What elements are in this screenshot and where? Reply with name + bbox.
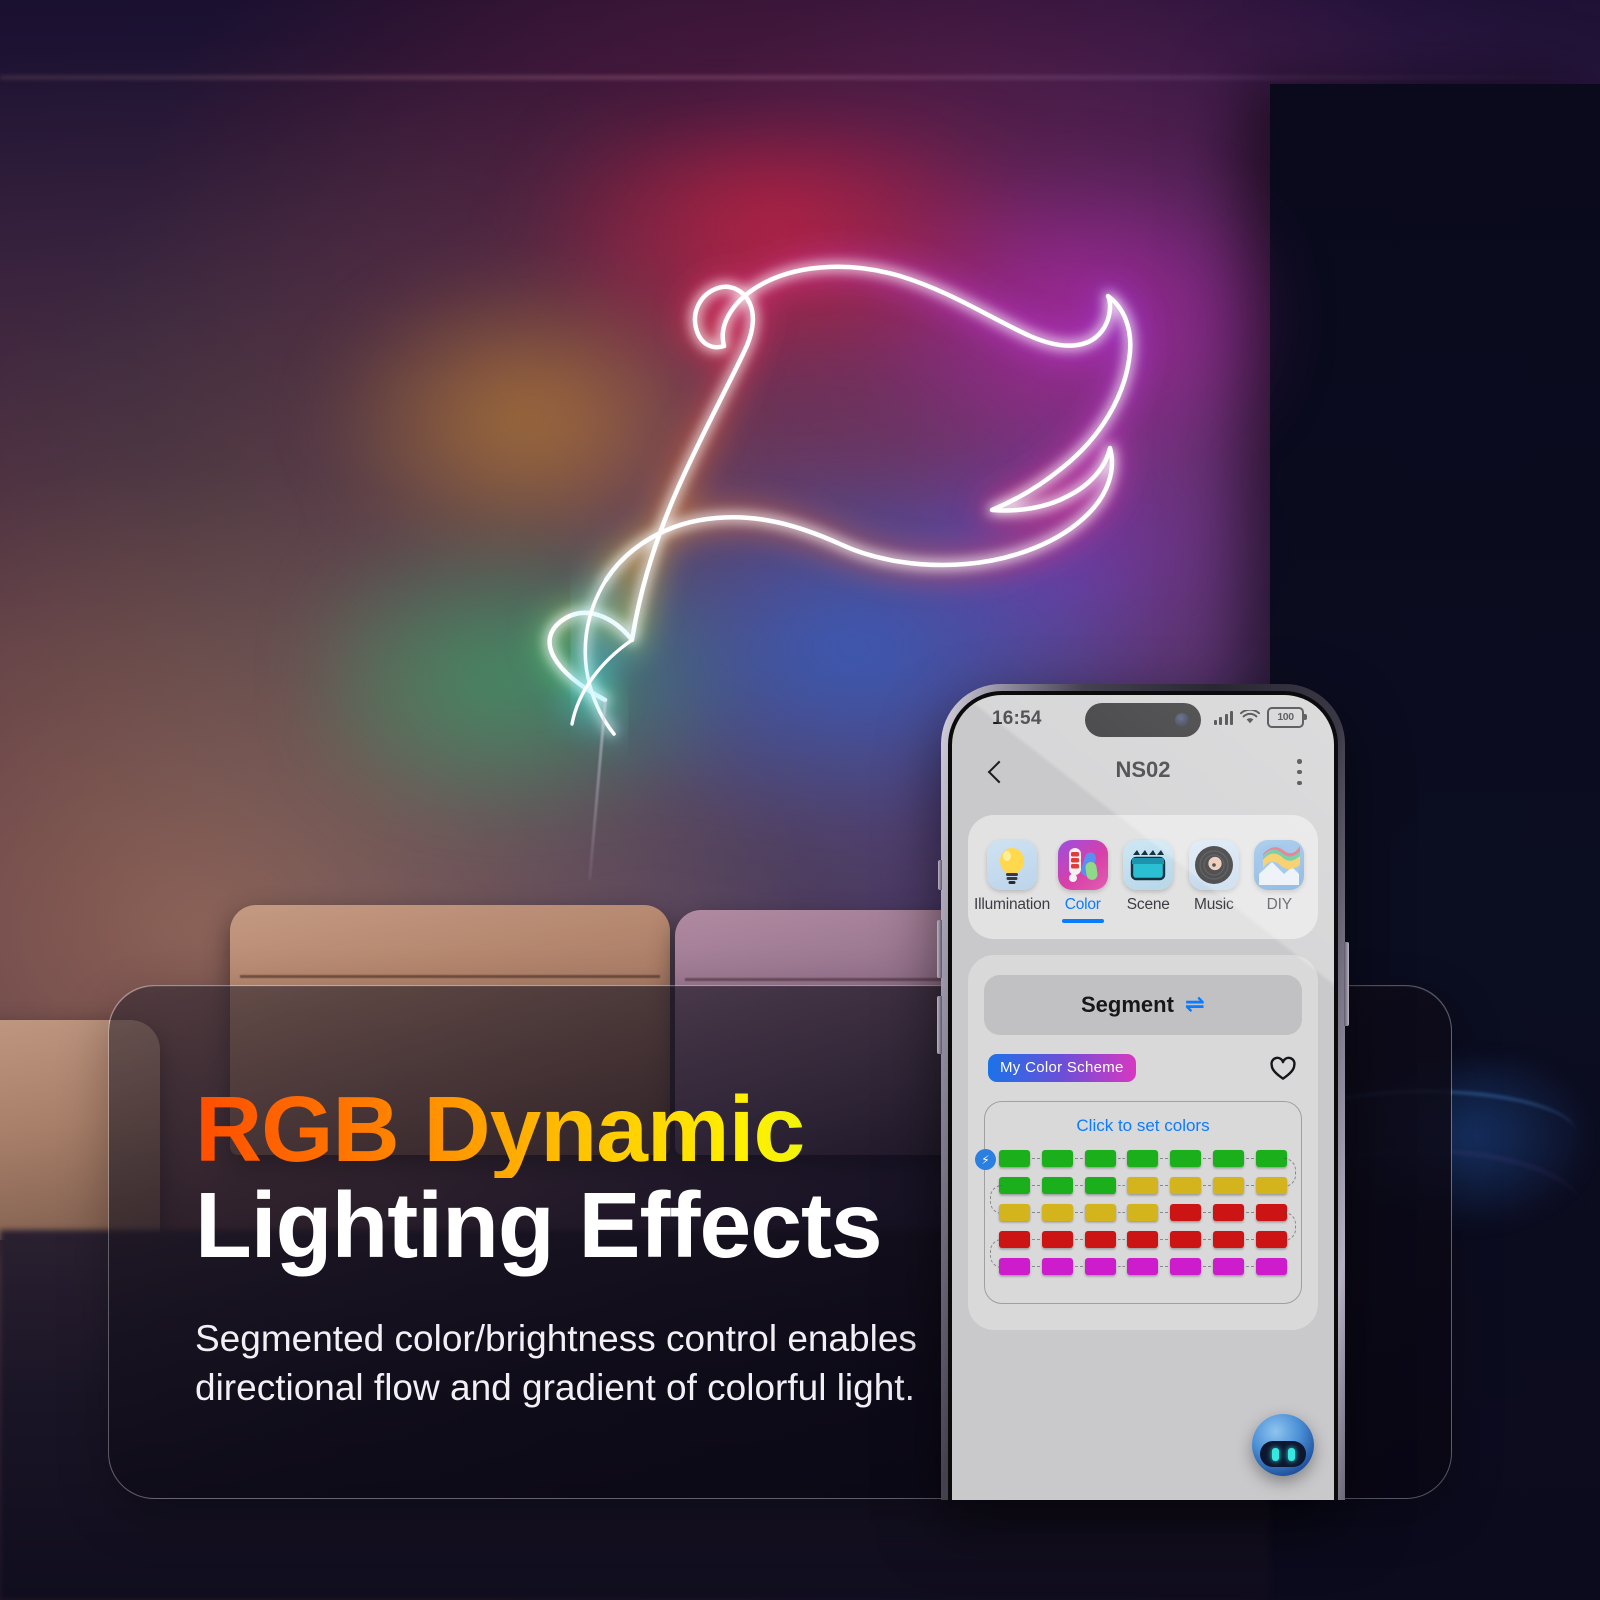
segment-cell[interactable]: [1085, 1150, 1116, 1167]
segment-cell[interactable]: [1213, 1150, 1244, 1167]
volume-up-button[interactable]: [937, 920, 942, 978]
segment-link: [1032, 1239, 1040, 1241]
app-navbar: NS02: [952, 747, 1334, 801]
segment-cell[interactable]: [1042, 1231, 1073, 1248]
phone-screen: 16:54 100: [952, 695, 1334, 1500]
phone-bezel: 16:54 100: [948, 691, 1338, 1500]
segment-cell[interactable]: [1170, 1258, 1201, 1275]
tab-illumination-label: Illumination: [974, 896, 1050, 914]
segment-link: [1075, 1185, 1083, 1187]
clapperboard-icon: [1123, 840, 1173, 890]
assistant-visor: [1260, 1441, 1306, 1467]
page-subtitle: Segmented color/brightness control enabl…: [195, 1314, 935, 1413]
segment-link: [1203, 1239, 1211, 1241]
robot-assistant-icon[interactable]: [1252, 1414, 1314, 1476]
cellular-signal-icon: [1214, 710, 1234, 725]
segment-cell[interactable]: [999, 1177, 1030, 1194]
wall-trim-line: [0, 76, 1600, 79]
segment-link: [1118, 1212, 1126, 1214]
color-scheme-chip[interactable]: My Color Scheme: [988, 1054, 1136, 1082]
segment-link: [1160, 1239, 1168, 1241]
segment-link: [1032, 1185, 1040, 1187]
volume-down-button[interactable]: [937, 996, 942, 1054]
segment-cell[interactable]: [1085, 1204, 1116, 1221]
segment-cell[interactable]: [1042, 1258, 1073, 1275]
segment-cell[interactable]: [1127, 1177, 1158, 1194]
mute-switch[interactable]: [938, 860, 942, 890]
segment-link: [1118, 1185, 1126, 1187]
segment-cell[interactable]: [1256, 1258, 1287, 1275]
swap-arrows-icon: ⇌: [1185, 993, 1205, 1017]
segment-grid-row[interactable]: [999, 1258, 1287, 1275]
segment-cell[interactable]: [1256, 1150, 1287, 1167]
segment-link: [1203, 1212, 1211, 1214]
battery-icon: 100: [1267, 707, 1304, 728]
segment-link: [1246, 1212, 1254, 1214]
segment-cell[interactable]: [1213, 1177, 1244, 1194]
segment-cell[interactable]: [1256, 1177, 1287, 1194]
segment-link: [1075, 1212, 1083, 1214]
segment-cell[interactable]: [1170, 1204, 1201, 1221]
segment-link: [1160, 1185, 1168, 1187]
segment-link: [1246, 1185, 1254, 1187]
status-indicators: 100: [1214, 707, 1305, 728]
segment-link: [1032, 1212, 1040, 1214]
status-time: 16:54: [992, 708, 1042, 730]
segment-cell[interactable]: [1085, 1231, 1116, 1248]
segment-link: [1246, 1239, 1254, 1241]
segment-cell[interactable]: [999, 1204, 1030, 1221]
segment-cell[interactable]: [1256, 1231, 1287, 1248]
segment-cell[interactable]: [1085, 1258, 1116, 1275]
bolt-icon: ⚡: [975, 1149, 996, 1170]
segment-cell[interactable]: [1213, 1204, 1244, 1221]
mode-tab-bar: Illumination: [968, 815, 1318, 939]
segment-link: [1160, 1212, 1168, 1214]
segment-grid-row[interactable]: [999, 1177, 1287, 1194]
more-vertical-icon[interactable]: [1297, 759, 1302, 785]
segment-cell[interactable]: [1256, 1204, 1287, 1221]
scheme-row: My Color Scheme: [984, 1053, 1302, 1083]
tab-scene[interactable]: Scene: [1116, 840, 1182, 914]
battery-level: 100: [1277, 712, 1293, 723]
dynamic-island: [1085, 703, 1201, 737]
segment-cell[interactable]: [999, 1258, 1030, 1275]
device-name-title: NS02: [952, 757, 1334, 783]
phone-mockup: 16:54 100: [941, 684, 1345, 1500]
assistant-eye-right: [1288, 1448, 1295, 1461]
segment-link: [1203, 1185, 1211, 1187]
cushion-seam-left: [240, 975, 660, 978]
tab-music-label: Music: [1194, 896, 1233, 914]
segment-grid-rows: ⚡: [999, 1150, 1287, 1275]
segment-grid-row[interactable]: [999, 1231, 1287, 1248]
segment-cell[interactable]: [1042, 1177, 1073, 1194]
segment-cell[interactable]: [1127, 1150, 1158, 1167]
segment-grid-row[interactable]: [999, 1204, 1287, 1221]
segment-cell[interactable]: [1170, 1231, 1201, 1248]
tab-scene-label: Scene: [1127, 896, 1170, 914]
segment-cell[interactable]: [1085, 1177, 1116, 1194]
segment-link: [1075, 1266, 1083, 1268]
vinyl-record-icon: [1189, 840, 1239, 890]
segment-selector-button[interactable]: Segment ⇌: [984, 975, 1302, 1035]
segment-cell[interactable]: [1042, 1204, 1073, 1221]
segment-link: [1118, 1266, 1126, 1268]
tab-illumination[interactable]: Illumination: [974, 840, 1050, 914]
grid-hint-label: Click to set colors: [999, 1116, 1287, 1136]
color-grid[interactable]: Click to set colors ⚡: [984, 1101, 1302, 1304]
power-button[interactable]: [1344, 942, 1349, 1026]
tab-color-label: Color: [1065, 896, 1101, 914]
segment-link: [1032, 1266, 1040, 1268]
assistant-eye-left: [1272, 1448, 1279, 1461]
color-palette-icon: [1058, 840, 1108, 890]
segment-link: [1032, 1158, 1040, 1160]
tab-music[interactable]: Music: [1181, 840, 1247, 914]
tab-color[interactable]: Color: [1050, 840, 1116, 914]
segment-cell[interactable]: [1170, 1150, 1201, 1167]
tab-diy[interactable]: DIY: [1247, 840, 1313, 914]
segment-link: [1246, 1158, 1254, 1160]
segment-cell[interactable]: [1127, 1231, 1158, 1248]
segment-link: [1203, 1266, 1211, 1268]
front-camera-icon: [1175, 713, 1189, 727]
segment-cell[interactable]: [999, 1231, 1030, 1248]
color-controls-card: Segment ⇌ My Color Scheme Click to set c…: [968, 955, 1318, 1330]
lightbulb-icon: [987, 840, 1037, 890]
phone-frame: 16:54 100: [941, 684, 1345, 1500]
segment-link: [1160, 1266, 1168, 1268]
segment-label: Segment: [1081, 992, 1174, 1018]
segment-cell[interactable]: [1170, 1177, 1201, 1194]
segment-cell[interactable]: [1213, 1231, 1244, 1248]
segment-link: [1160, 1158, 1168, 1160]
segment-link: [1118, 1239, 1126, 1241]
wifi-icon: [1240, 710, 1260, 725]
segment-cell[interactable]: [999, 1150, 1030, 1167]
segment-cell[interactable]: [1213, 1258, 1244, 1275]
segment-grid-row[interactable]: ⚡: [999, 1150, 1287, 1167]
status-bar: 16:54 100: [952, 695, 1334, 747]
heart-outline-icon[interactable]: [1268, 1053, 1298, 1083]
segment-link: [1246, 1266, 1254, 1268]
segment-link: [1075, 1239, 1083, 1241]
paint-landscape-icon: [1254, 840, 1304, 890]
segment-cell[interactable]: [1127, 1204, 1158, 1221]
segment-cell[interactable]: [1127, 1258, 1158, 1275]
segment-link: [1075, 1158, 1083, 1160]
segment-cell[interactable]: [1042, 1150, 1073, 1167]
promo-banner: RGB Dynamic Lighting Effects Segmented c…: [0, 0, 1600, 1600]
segment-link: [1118, 1158, 1126, 1160]
segment-link: [1203, 1158, 1211, 1160]
tab-diy-label: DIY: [1267, 896, 1292, 914]
